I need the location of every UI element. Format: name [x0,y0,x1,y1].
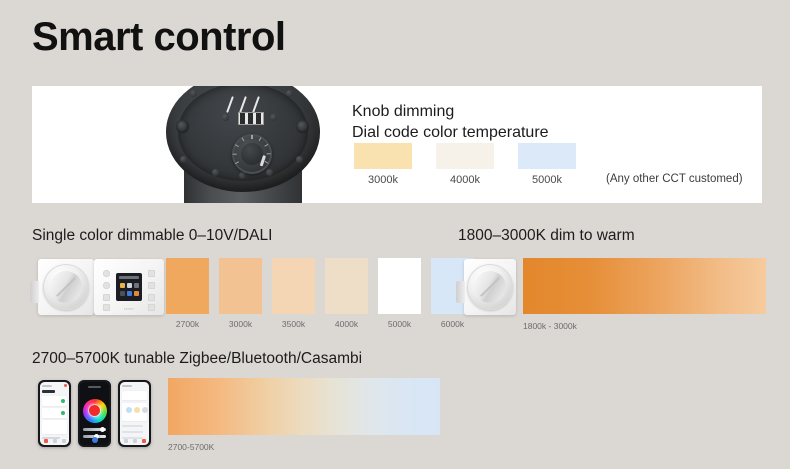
settings-row[interactable] [122,431,143,433]
knob-dimming-text: Knob dimming Dial code color temperature [352,101,549,143]
settings-row[interactable] [122,425,143,427]
display-indicator [127,283,132,288]
dip-switch[interactable] [240,113,245,124]
gradient-label: 2700-5700K [168,442,214,452]
dim-to-warm-heading: 1800–3000K dim to warm [458,227,635,245]
cct-swatch-color [436,143,494,169]
status-badge [61,399,65,403]
gradient-bar [523,258,766,314]
swatch-2700k: 2700k [166,258,209,329]
screw-icon [270,114,277,121]
display-indicator [120,291,125,296]
keypad-button[interactable] [103,294,110,301]
dial-tick [251,135,252,139]
display-line [119,276,139,279]
phone-app-settings-screen[interactable] [118,380,151,447]
screw-icon [190,90,197,97]
screen-title [88,386,101,388]
screw-icon [296,156,303,163]
keypad-button[interactable] [103,270,110,277]
rotary-knob-inner [50,271,82,303]
power-button-icon[interactable] [92,437,98,443]
single-color-heading: Single color dimmable 0–10V/DALI [32,227,272,245]
header-card[interactable] [122,391,147,400]
cct-swatch-label: 5000k [518,174,576,186]
swatch-color [166,258,209,314]
dial-tick [265,161,269,164]
dial-tick [233,153,237,154]
swatch-label: 3500k [272,319,315,329]
keypad-button[interactable] [148,270,155,277]
display-indicator [134,283,139,288]
swatch-3500k: 3500k [272,258,315,329]
slider-handle[interactable] [100,427,105,432]
plate-side-edge [30,281,39,303]
cct-swatch-3000k: 3000k [354,143,412,186]
swatch-label: 4000k [325,319,368,329]
cct-swatch-5000k: 5000k [518,143,576,186]
swatch-4000k: 4000k [325,258,368,329]
notification-dot [64,384,67,387]
keypad-button[interactable] [103,282,110,289]
dip-switch-block[interactable] [238,112,264,125]
cct-swatch-4000k: 4000k [436,143,494,186]
tunable-gradient: 2700-5700K [168,378,440,435]
display-indicator [120,283,125,288]
keypad-button[interactable] [148,282,155,289]
screw-icon [180,156,187,163]
dial-center [241,143,263,165]
dial-tick [235,161,239,164]
scene-icon[interactable] [134,407,140,413]
tab-bar-icon[interactable] [44,439,48,443]
swatch-label: 3000k [219,319,262,329]
phone-screen [40,382,70,446]
phone-app-color-wheel-screen[interactable] [78,380,111,447]
keypad-display[interactable] [116,273,142,301]
screen-title [42,390,55,393]
brightness-slider[interactable] [83,428,106,431]
swatch-color [325,258,368,314]
knob-dimming-line-1: Knob dimming [352,101,549,122]
tab-bar-icon[interactable] [142,439,146,443]
mount-tab-icon [176,120,189,133]
screw-icon [222,114,229,121]
page-title: Smart control [32,16,286,58]
cct-swatch-color [354,143,412,169]
status-bar [42,385,52,387]
scene-icon[interactable] [126,407,132,413]
plate-side-edge [456,281,465,303]
keypad-brand-mark: ▪▪▪▪▪▪ [94,307,164,311]
phone-screen [120,382,150,446]
rotary-knob-slash [480,277,500,297]
screw-icon [266,169,273,176]
display-indicator [127,291,132,296]
rotary-wall-dimmer[interactable] [38,259,94,315]
cct-swatch-label: 4000k [436,174,494,186]
swatch-color [378,258,421,314]
single-color-swatch-strip: 2700k 3000k 3500k 4000k 5000k 6000k [166,258,484,329]
display-indicator [134,291,139,296]
phone-screen [80,382,110,446]
swatch-label: 2700k [166,319,209,329]
list-item[interactable] [42,420,67,434]
swatch-5000k: 5000k [378,258,421,329]
cct-dial-knob[interactable] [232,134,272,174]
swatch-label: 5000k [378,319,421,329]
tunable-heading: 2700–5700K tunable Zigbee/Bluetooth/Casa… [32,350,362,368]
knob-dimming-line-2: Dial code color temperature [352,122,549,143]
dim-to-warm-gradient: 1800k - 3000k [523,258,766,314]
screw-icon [212,169,219,176]
tab-bar-icon[interactable] [53,439,57,443]
status-badge [61,411,65,415]
swatch-label: 6000k [431,319,474,329]
gradient-bar [168,378,440,435]
tab-bar-icon[interactable] [124,439,128,443]
knob-cct-swatch-row: 3000k 4000k 5000k (Any other CCT custome… [354,143,743,186]
phone-app-light-screen[interactable] [38,380,71,447]
cct-swatch-color [518,143,576,169]
luminaire-back-plate-photo [140,86,340,203]
cct-custom-note: (Any other CCT customed) [606,173,743,186]
keypad-wall-panel[interactable]: ▪▪▪▪▪▪ [94,259,164,315]
dip-switch[interactable] [248,113,253,124]
mount-tab-icon [296,120,309,133]
rotary-knob-inner [474,271,506,303]
swatch-color [219,258,262,314]
dial-tick [235,144,239,147]
rotary-knob-slash [56,277,76,297]
tab-bar-icon[interactable] [133,439,137,443]
tab-bar-icon[interactable] [62,439,66,443]
swatch-3000k: 3000k [219,258,262,329]
scene-icon[interactable] [142,407,148,413]
gradient-label: 1800k - 3000k [523,321,577,331]
color-wheel-center[interactable] [89,405,100,416]
dial-tick [242,137,245,141]
dip-switch[interactable] [256,113,261,124]
knob-dimming-panel: Knob dimming Dial code color temperature… [32,86,762,203]
color-wheel-picker[interactable] [83,399,107,423]
dial-tick [267,153,271,154]
keypad-button[interactable] [148,294,155,301]
dial-tick [265,144,269,147]
cct-swatch-label: 3000k [354,174,412,186]
screw-icon [286,90,293,97]
rotary-knob-icon[interactable] [467,264,513,310]
status-bar [122,385,132,387]
swatch-color [272,258,315,314]
rotary-knob-icon[interactable] [43,264,89,310]
dim-to-warm-rotary-dimmer[interactable] [464,259,516,315]
dial-tick [259,137,262,141]
